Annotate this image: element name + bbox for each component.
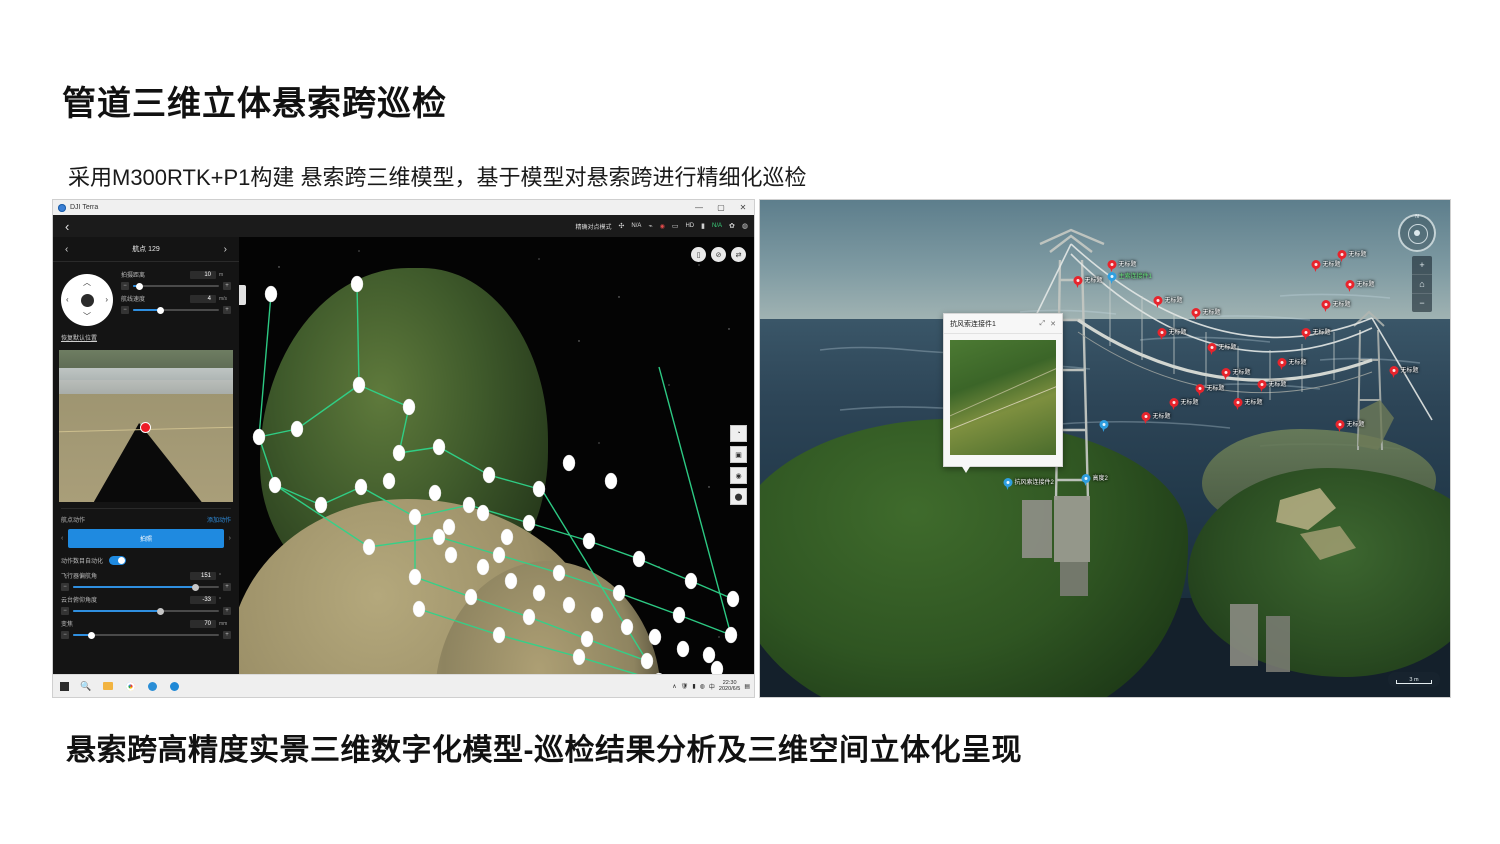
- dpad-and-sliders-row: ︿ ﹀ ‹ › 拍摄距离 10 m −: [53, 262, 239, 330]
- next-waypoint-button[interactable]: ›: [224, 244, 227, 255]
- action-chip-photo[interactable]: 拍照: [68, 529, 223, 548]
- erase-icon[interactable]: ⊘: [711, 247, 726, 262]
- battery-level-label: N/A: [712, 223, 722, 229]
- map-marker-pin[interactable]: 无标题: [1312, 260, 1321, 272]
- system-tray: ∧ 🛡 ▮ ◍ 中 22:30 2020/6/5 ▤: [672, 675, 750, 697]
- viewport-top-toolbar: ▯ ⊘ ⇄: [691, 247, 746, 262]
- map-marker-label: 无标题: [1347, 419, 1365, 428]
- map-marker-label: 无标题: [1289, 357, 1307, 366]
- pin-tail-icon: [1391, 372, 1395, 378]
- map-marker-label: 无标题: [1219, 342, 1237, 351]
- slider-unit: mm: [219, 621, 231, 627]
- popup-title: 抗风索连接件1: [950, 319, 996, 329]
- inspection-popup-card[interactable]: 抗风索连接件1 ⤢ ✕: [943, 313, 1063, 467]
- prev-waypoint-button[interactable]: ‹: [65, 244, 68, 255]
- pin-tail-icon: [1109, 266, 1113, 272]
- chrome-icon[interactable]: [119, 675, 141, 697]
- signal-icon: ▮: [701, 222, 705, 230]
- map-marker-label: 无标题: [1203, 307, 1221, 316]
- slider-label: 云台俯仰角度: [61, 595, 97, 604]
- map-marker-pin[interactable]: 主索连接件1: [1108, 272, 1117, 284]
- pin-tail-icon: [1313, 266, 1317, 272]
- battery-icon: ▭: [672, 222, 679, 230]
- map-marker-pin[interactable]: 无标题: [1338, 250, 1347, 262]
- route-icon[interactable]: ⇄: [731, 247, 746, 262]
- expand-icon[interactable]: ⤢: [1040, 320, 1046, 328]
- hd-label: HD: [685, 223, 694, 229]
- pin-icon[interactable]: ⬤: [730, 488, 747, 505]
- popup-photo[interactable]: [950, 340, 1056, 455]
- status-bar: 精确对点模式 ✣ N/A ⌁ ◉ ▭ HD ▮ N/A ✿ ◍: [575, 215, 748, 237]
- slider-value[interactable]: -33: [190, 596, 216, 604]
- map-marker-label: 抗风索连接件2: [1015, 477, 1054, 486]
- slider-unit: °: [219, 573, 231, 579]
- map-marker-label: 高度2: [1093, 473, 1108, 482]
- scale-bar: 3 m: [1388, 672, 1440, 687]
- map-marker-label: 无标题: [1119, 259, 1137, 268]
- distance-speed-sliders: 拍摄距离 10 m − +: [113, 270, 231, 326]
- pin-tail-icon: [1197, 390, 1201, 396]
- slider-track[interactable]: [73, 610, 219, 612]
- pin-tail-icon: [1223, 374, 1227, 380]
- slider-label: 拍摄距离: [121, 270, 145, 279]
- map-marker-pin[interactable]: 无标题: [1142, 412, 1151, 424]
- slider-unit: m: [219, 272, 231, 278]
- point-icon[interactable]: ◉: [730, 467, 747, 484]
- slider-label: 飞行器偏航角: [61, 571, 97, 580]
- tray-chevron-icon[interactable]: ∧: [672, 683, 676, 690]
- map-marker-pin[interactable]: 无标题: [1170, 398, 1179, 410]
- pin-tail-icon: [1259, 386, 1263, 392]
- control-panel: ‹ 航点 129 › ︿ ﹀ ‹ › 拍摄距离 10 m: [53, 237, 240, 697]
- map-marker-label: 无标题: [1245, 397, 1263, 406]
- tray-clock[interactable]: 22:30 2020/6/5: [719, 680, 740, 693]
- slider-route-speed: 航线速度 4 m/s − +: [121, 294, 231, 314]
- map-marker-label: 无标题: [1401, 365, 1419, 374]
- action-section-title: 航点动作: [61, 515, 85, 524]
- slider-unit: °: [219, 597, 231, 603]
- map-marker-pin[interactable]: 无标题: [1196, 384, 1205, 396]
- window-title-label: DJI Terra: [70, 204, 98, 211]
- prev-action-button[interactable]: ‹: [61, 535, 63, 542]
- pin-tail-icon: [1109, 278, 1113, 284]
- tray-shield-icon[interactable]: 🛡: [681, 683, 689, 690]
- pin-tail-icon: [1279, 364, 1283, 370]
- map-marker-label: 无标题: [1181, 397, 1199, 406]
- gear-icon[interactable]: ✿: [729, 222, 735, 230]
- camera-preview-thumbnail[interactable]: [59, 350, 233, 502]
- marker-layer: 无标题主索连接件1无标题无标题无标题无标题无标题无标题无标题无标题无标题无标题无…: [760, 200, 1450, 697]
- map-marker-pin[interactable]: 无标题: [1208, 343, 1217, 355]
- map-marker-label: 无标题: [1333, 299, 1351, 308]
- pin-tail-icon: [1155, 302, 1159, 308]
- toggle-label: 动作数目自动化: [61, 556, 103, 565]
- slider-track[interactable]: [133, 285, 219, 287]
- user-icon[interactable]: ◍: [742, 222, 748, 230]
- decrease-button[interactable]: −: [61, 607, 69, 615]
- pin-tail-icon: [1171, 404, 1175, 410]
- start-icon[interactable]: [53, 675, 75, 697]
- measure-icon[interactable]: ▯: [691, 247, 706, 262]
- slider-track[interactable]: [133, 309, 219, 311]
- pin-tail-icon: [1143, 418, 1147, 424]
- frame-icon[interactable]: ▣: [730, 446, 747, 463]
- slider-label: 航线速度: [121, 294, 145, 303]
- pin-tail-icon: [1339, 256, 1343, 262]
- map-marker-pin[interactable]: 无标题: [1154, 296, 1163, 308]
- preview-bridge-deck: [59, 368, 233, 394]
- video-icon: ◉: [660, 223, 665, 230]
- flight-path-overlay: [239, 237, 754, 697]
- map-marker-pin[interactable]: 无标题: [1258, 380, 1267, 392]
- map-marker-label: 无标题: [1165, 295, 1183, 304]
- map-marker-pin[interactable]: 无标题: [1390, 366, 1399, 378]
- map-marker-pin[interactable]: 无标题: [1278, 358, 1287, 370]
- map-marker-pin[interactable]: [1100, 420, 1109, 432]
- pin-tail-icon: [1347, 286, 1351, 292]
- slider-value[interactable]: 70: [190, 620, 216, 628]
- maximize-button[interactable]: ▢: [710, 200, 732, 215]
- slider-yaw: 飞行器偏航角 151 ° − +: [53, 567, 239, 591]
- pin-tail-icon: [1005, 484, 1009, 490]
- map-marker-pin[interactable]: 无标题: [1074, 276, 1083, 288]
- map-marker-pin[interactable]: 无标题: [1302, 328, 1311, 340]
- auto-action-toggle-row: 动作数目自动化: [53, 548, 239, 567]
- minimize-button[interactable]: —: [688, 200, 710, 215]
- dpad-center-button[interactable]: [81, 294, 94, 307]
- direction-pad[interactable]: ︿ ﹀ ‹ ›: [61, 274, 113, 326]
- page-subtitle: 采用M300RTK+P1构建 悬索跨三维模型，基于模型对悬索跨进行精细化巡检: [68, 160, 807, 192]
- back-button[interactable]: ‹: [65, 220, 69, 233]
- decrease-button[interactable]: −: [121, 282, 129, 290]
- dji-terra-app-icon: [58, 204, 66, 212]
- map-marker-label: 主索连接件1: [1119, 271, 1152, 280]
- map-marker-label: 无标题: [1207, 383, 1225, 392]
- decrease-button[interactable]: −: [61, 583, 69, 591]
- map-marker-pin[interactable]: 无标题: [1108, 260, 1117, 272]
- auto-action-toggle[interactable]: [109, 556, 126, 565]
- add-action-link[interactable]: 添加动作: [207, 515, 231, 524]
- scale-label: 3 m: [1409, 677, 1418, 683]
- page-caption: 悬索跨高精度实景三维数字化模型-巡检结果分析及三维空间立体化呈现: [66, 725, 1022, 769]
- map-marker-label: 无标题: [1153, 411, 1171, 420]
- next-action-button[interactable]: ›: [229, 535, 231, 542]
- waypoint-label: 航点 129: [132, 244, 160, 254]
- pin-tail-icon: [1235, 404, 1239, 410]
- search-icon[interactable]: 🔍: [75, 675, 97, 697]
- map-marker-label: 无标题: [1357, 279, 1375, 288]
- pin-tail-icon: [1323, 306, 1327, 312]
- increase-button[interactable]: +: [223, 607, 231, 615]
- map-marker-label: 无标题: [1233, 367, 1251, 376]
- pin-tail-icon: [1337, 426, 1341, 432]
- map-marker-label: 无标题: [1313, 327, 1331, 336]
- satellite-icon: ✣: [618, 222, 624, 230]
- slider-shoot-distance: 拍摄距离 10 m − +: [121, 270, 231, 290]
- window-title-bar: DJI Terra — ▢ ✕: [53, 200, 754, 215]
- reset-position-link[interactable]: 恢复默认位置: [53, 330, 239, 348]
- slider-unit: m/s: [219, 296, 231, 302]
- gps-label: N/A: [631, 223, 641, 229]
- left-screenshot-dji-terra: DJI Terra — ▢ ✕ ‹ 精确对点模式 ✣ N/A ⌁ ◉ ▭ HD …: [53, 200, 754, 697]
- decrease-button[interactable]: −: [61, 631, 69, 639]
- 3d-model-viewport[interactable]: ▯ ⊘ ⇄ ◔ ▣ ◉ ⬤ + −: [239, 237, 754, 697]
- layers-icon[interactable]: ◔: [730, 425, 747, 442]
- slider-track[interactable]: [73, 586, 219, 588]
- windows-taskbar: 🔍 ∧ 🛡 ▮ ◍ 中 22:30 2020/6/5 ▤: [53, 674, 754, 697]
- viewport-side-toolbar: ◔ ▣ ◉ ⬤: [731, 425, 746, 505]
- page-title: 管道三维立体悬索跨巡检: [62, 76, 447, 125]
- map-marker-pin[interactable]: 高度2: [1082, 474, 1091, 486]
- map-marker-pin[interactable]: 抗风索连接件2: [1004, 478, 1013, 490]
- map-marker-pin[interactable]: 无标题: [1192, 308, 1201, 320]
- map-marker-label: 无标题: [1269, 379, 1287, 388]
- edge-icon[interactable]: [141, 675, 163, 697]
- file-explorer-icon[interactable]: [97, 675, 119, 697]
- tray-network-icon[interactable]: ▮: [692, 683, 695, 690]
- pin-tail-icon: [1101, 426, 1105, 432]
- pin-tail-icon: [1083, 480, 1087, 486]
- map-marker-pin[interactable]: 无标题: [1322, 300, 1331, 312]
- action-selector: ‹ 拍照 ›: [53, 524, 239, 548]
- map-marker-label: 无标题: [1085, 275, 1103, 284]
- remote-icon: ⌁: [648, 222, 652, 230]
- popup-header: 抗风索连接件1 ⤢ ✕: [944, 314, 1062, 334]
- slider-track[interactable]: [73, 634, 219, 636]
- map-marker-pin[interactable]: 无标题: [1158, 328, 1167, 340]
- map-marker-pin[interactable]: 无标题: [1336, 420, 1345, 432]
- slider-gimbal-pitch: 云台俯仰角度 -33 ° − +: [53, 591, 239, 615]
- map-marker-pin[interactable]: 无标题: [1346, 280, 1355, 292]
- decrease-button[interactable]: −: [121, 306, 129, 314]
- map-marker-pin[interactable]: 无标题: [1234, 398, 1243, 410]
- close-icon[interactable]: ✕: [1050, 320, 1056, 328]
- dpad-down-icon[interactable]: ﹀: [83, 313, 91, 321]
- flight-mode-label: 精确对点模式: [575, 222, 611, 231]
- preview-target-point: [141, 423, 150, 432]
- map-marker-pin[interactable]: 无标题: [1222, 368, 1231, 380]
- pin-tail-icon: [1303, 334, 1307, 340]
- tray-volume-icon[interactable]: ◍: [700, 683, 705, 690]
- slider-value[interactable]: 151: [190, 572, 216, 580]
- increase-button[interactable]: +: [223, 583, 231, 591]
- slider-zoom: 变焦 70 mm − +: [53, 615, 239, 639]
- tray-time: 22:30: [723, 680, 737, 686]
- slider-label: 变焦: [61, 619, 73, 628]
- dpad-left-icon[interactable]: ‹: [66, 296, 69, 304]
- panel-collapse-handle[interactable]: [239, 285, 246, 305]
- map-marker-label: 无标题: [1349, 249, 1367, 258]
- waypoint-action-header: 航点动作 添加动作: [53, 515, 239, 524]
- window-controls: — ▢ ✕: [688, 200, 754, 215]
- notifications-icon[interactable]: ▤: [744, 683, 750, 690]
- dpad-right-icon[interactable]: ›: [105, 296, 108, 304]
- pin-tail-icon: [1193, 314, 1197, 320]
- increase-button[interactable]: +: [223, 631, 231, 639]
- increase-button[interactable]: +: [223, 282, 231, 290]
- increase-button[interactable]: +: [223, 306, 231, 314]
- tray-ime-label[interactable]: 中: [709, 682, 715, 691]
- close-button[interactable]: ✕: [732, 200, 754, 215]
- slider-value[interactable]: 10: [190, 271, 216, 279]
- map-marker-label: 无标题: [1169, 327, 1187, 336]
- dpad-up-icon[interactable]: ︿: [83, 279, 91, 287]
- pin-tail-icon: [1075, 282, 1079, 288]
- waypoint-navigator: ‹ 航点 129 ›: [53, 237, 239, 262]
- slider-value[interactable]: 4: [190, 295, 216, 303]
- popup-pointer: [961, 465, 971, 473]
- tray-date: 2020/6/5: [719, 686, 740, 692]
- pin-tail-icon: [1209, 349, 1213, 355]
- mail-icon[interactable]: [163, 675, 185, 697]
- pin-tail-icon: [1159, 334, 1163, 340]
- right-screenshot-3d-inspection[interactable]: N + ⌂ − 无标题主索连接件1无标题无标题无标题无标题无标题无标题无标题无标…: [760, 200, 1450, 697]
